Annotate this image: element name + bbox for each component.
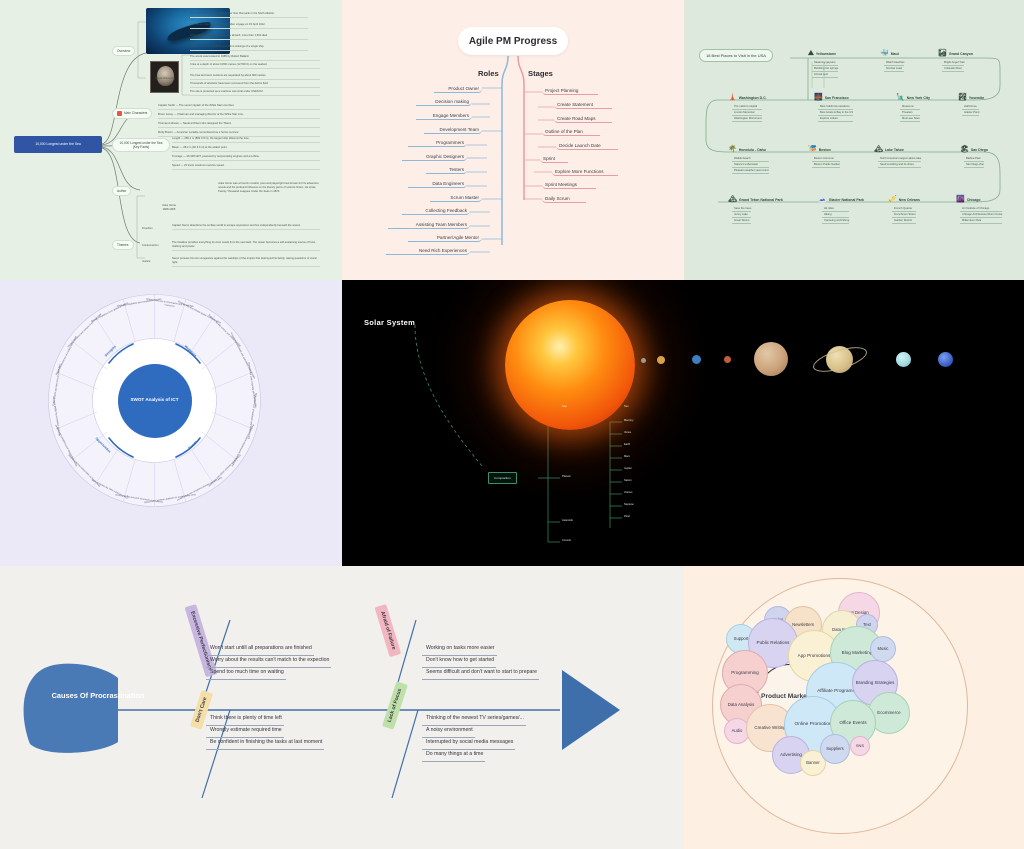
panel-titanic-mindmap: 10,000 Longest under the Sea Overview Ma… [0,0,342,280]
glacier-icon: 🗻 [818,196,827,203]
leaf-char-2: Bruce Ismay — Chairman and managing dire… [158,113,320,119]
stage-item-8[interactable]: Daily Scrum [542,196,586,203]
group-star: Star [562,405,567,408]
node-main-characters[interactable]: Main Characters [112,108,152,119]
place-glacier-items: Hit rides Hiking Canoeing and fishing [822,206,849,224]
heading-roles: Roles [478,69,499,78]
item-venus: Venus [624,431,631,434]
role-item-2[interactable]: Engage Members [416,113,472,120]
monument-icon: 🗼 [728,94,737,101]
place-new-york-city[interactable]: 🗽 New York City [896,94,930,101]
items-lack-of-focus: Thinking of the newest TV series/games/.… [422,714,526,762]
planet-earth [692,355,701,364]
item-jupiter: Jupiter [624,467,632,470]
leaf-theme-justice: Nemo pursues his own vengeance against t… [172,257,320,267]
bubble-suppliers[interactable]: Suppliers [820,734,850,764]
items-dont-care: Think there is plenty of time left Wrong… [206,714,324,750]
place-chicago[interactable]: 🌆 Chicago [956,196,981,203]
panel-procrastination-fishbone: Causes Of Procrastination Excessive Perf… [0,566,684,849]
panel-solar-system: Solar System Composition Star Sun Planet… [342,280,1024,566]
leaf-wreck-1: The wreck was located in 1985 by Robert … [190,55,320,61]
fishbone-head-label: Causes Of Procrastination [46,692,150,701]
node-themes[interactable]: Themes [112,240,134,250]
place-honolulu-oahu[interactable]: 🌴 Honolulu - Oahu [728,146,766,153]
items-excessive-perfectionism: Won't start untill all preparations are … [206,644,331,680]
role-item-6[interactable]: Testers [426,167,467,174]
swot-wheel: SWOT Analysis of ICT Strengths Weakness … [47,293,262,508]
mountain-icon: 🏔 [728,196,737,203]
role-item-9[interactable]: Collecting Feedback [402,208,470,215]
item-pluto: Pluto [624,515,630,518]
leaf-fact-1: Length — 269.1 m (882 ft 9 in), the larg… [172,137,320,143]
leaf-char-1: Captain Smith — The senior captain of th… [158,104,320,110]
place-lake-tahoe-items: North America's largest alpine lake Sand… [878,156,921,168]
items-afraid-of-failure: Working on tasks more easier Don't know … [422,644,539,680]
label-theme-consumerism: Consumerism [142,244,170,249]
panel3-connectors [684,0,1024,280]
leaf-wreck-2: It lies at a depth of about 3,800 metres… [190,63,320,69]
place-san-diego[interactable]: 🏖 San Diego [960,146,988,153]
panel-agile-pm: Agile PM Progress Roles Stages Product O… [342,0,684,280]
planet-mercury [641,358,646,363]
role-item-10[interactable]: Assisting Team Members [388,222,470,229]
leaf-author-bio: Jules Verne was a French novelist, poet … [218,182,320,195]
leaf-overview-2: It struck an iceberg during her maiden v… [190,23,308,29]
solar-system-title: Solar System [364,318,415,327]
place-san-francisco[interactable]: 🌉 San Francisco [814,94,849,101]
place-lake-tahoe[interactable]: 🏔 Lake Tahoe [874,146,904,153]
bubble-sns[interactable]: SNS [850,736,870,756]
panel-swot-wheel: SWOT Analysis of ICT Strengths Weakness … [0,280,342,566]
mindmap-gallery: 10,000 Longest under the Sea Overview Ma… [0,0,1024,849]
stage-item-1[interactable]: Create Statement [554,102,612,109]
valley-icon: 🏞 [958,94,967,101]
leaf-wreck-4: Thousands of artefacts have been recover… [190,82,320,88]
place-san-francisco-items: Best California vacations Best hotels & … [818,104,853,122]
item-sun: Sun [624,405,629,408]
place-honolulu-items: Waikiki beach Nature's underwater Pleasa… [732,156,769,174]
panel-usa-places: 18 Best Places to Visit in the USA ⛰ Yel… [684,0,1024,280]
place-yosemite-items: Half Dome Glacier Point [962,104,979,116]
heading-stages: Stages [528,69,553,78]
red-card-icon [117,111,122,116]
leaf-theme-freedom: Captain Nemo abandons the surface world … [172,224,320,230]
place-new-york-city-items: Museums Theaters Must-see Sites [900,104,920,122]
place-san-diego-items: Balboa Park San Diego Zoo [964,156,984,168]
label-theme-justice: Justice [142,260,168,265]
role-item-8[interactable]: Scrum Master [430,195,482,202]
mardi-gras-icon: 🎺 [888,196,897,203]
role-item-7[interactable]: Data Engineers [408,181,467,188]
place-chicago-items: Art Institute of Chicago Chicago Archite… [960,206,1002,224]
bridge-icon: 🌉 [814,94,823,101]
leaf-wreck-3: The bow and stern sections are separated… [190,74,320,80]
fishbone-bones [0,566,684,849]
role-item-12[interactable]: Need Rich Experiences [386,248,470,255]
place-grand-canyon[interactable]: 🏜 Grand Canyon [938,50,973,57]
lake-icon: 🏔 [874,146,883,153]
leaf-overview-4: It was one of the deadliest peacetime si… [190,45,308,51]
node-author[interactable]: Author [112,186,131,196]
place-yosemite[interactable]: 🏞 Yosemite [958,94,984,101]
stage-item-4[interactable]: Decide Launch Date [556,143,618,150]
leaf-fact-2: Beam — 28.2 m (92 ft 6 in) at the widest… [172,146,320,152]
statue-icon: 🗽 [896,94,905,101]
place-yellowstone-items: Steaming geysers Bubbling hot springs An… [812,60,838,78]
planet-venus [657,356,665,364]
role-item-5[interactable]: Graphic Designers [402,154,467,161]
palm-icon: 🌴 [728,146,737,153]
leaf-fact-3: Tonnage — 46,328 GRT, powered by recipro… [172,155,320,161]
stage-item-0[interactable]: Project Planning [542,88,598,95]
role-item-1[interactable]: Decision making [416,99,472,106]
place-grand-canyon-items: Bright Angel Trail Colorado River [942,60,964,72]
node-overview[interactable]: Overview [112,46,135,56]
geyser-icon: ⛰ [808,50,814,57]
planet-neptune [938,352,953,367]
item-mars: Mars [624,455,630,458]
caption-author: Jules Verne 1828-1905 [152,204,186,213]
sun-body [505,300,635,430]
leaf-fact-4: Speed — 23 knots maximum service speed. [172,164,320,170]
composition-node[interactable]: Composition [488,472,517,484]
swot-center-label: SWOT Analysis of ICT [118,364,192,438]
planet-uranus [896,352,911,367]
item-uranus: Uranus [624,491,632,494]
planet-mars [724,356,731,363]
label-wreck-discovery: Wreck Discovery [148,77,182,82]
item-mercury: Mercury [624,419,633,422]
beach-icon: 🏖 [960,146,969,153]
leaf-wreck-5: The site is protected as a maritime memo… [190,90,320,96]
stage-item-3[interactable]: Outline of the Plan [542,129,600,136]
panel1-root-node[interactable]: 10,000 Longest under the Sea [14,136,102,153]
place-grand-teton-items: Save the trees Jenny Lake Great Tetons [732,206,751,224]
place-washington-dc-items: The nation's capital Lincoln Memorial Wa… [732,104,762,122]
place-washington-dc[interactable]: 🗼 Washington D.C. [728,94,767,101]
item-neptune: Neptune [624,503,634,506]
place-grand-teton[interactable]: 🏔 Grand Teton National Park [728,196,783,203]
stage-item-7[interactable]: Sprint Meetings [542,182,596,189]
leaf-theme-consumerism: The Nautilus provides everything its cre… [172,241,320,251]
whale-icon: 🐳 [880,50,889,57]
place-maui[interactable]: 🐳 Maui [880,50,899,57]
group-planets: Planets [562,475,571,478]
flag-icon: 🎏 [808,146,817,153]
leaf-char-4: Molly Brown — American socialite remembe… [158,131,320,137]
place-glacier[interactable]: 🗻 Glacier National Park [818,196,864,203]
leaf-char-3: Thomas Andrews — Naval architect who des… [158,122,320,128]
bubble-music[interactable]: Music [870,636,896,662]
planet-jupiter [754,342,788,376]
label-theme-freedom: Freedom [142,227,168,232]
place-new-orleans-items: French Quarter Frenchmen Street Garden D… [892,206,916,224]
node-key-facts[interactable]: 10,000 Longest under the Sea (Key Facts) [112,138,170,152]
role-item-3[interactable]: Development Team [424,127,482,134]
stage-item-2[interactable]: Create Road Maps [554,116,612,123]
panel3-root-node[interactable]: 18 Best Places to Visit in the USA [699,49,773,62]
group-asteroids: Asteroids [562,519,573,522]
place-boston[interactable]: 🎏 Boston [808,146,831,153]
place-maui-items: Watch beaches Snorkel coast [884,60,904,72]
panel-product-marketing: Product Marketing UI Design Sales Newsle… [684,566,1024,849]
panel2-title: Agile PM Progress [458,27,568,55]
canyon-icon: 🏜 [938,50,947,57]
place-boston-items: Boston Common Boston Public Garden [812,156,840,168]
stage-item-6[interactable]: Explore More Functions [552,169,618,176]
item-earth: Earth [624,443,630,446]
stage-item-5[interactable]: Sprint [540,156,568,163]
item-saturn: Saturn [624,479,632,482]
skyline-icon: 🌆 [956,196,965,203]
role-item-11[interactable]: Partner/Agile Mentor [408,235,482,242]
role-item-0[interactable]: Product Owner [434,86,482,93]
leaf-overview-3: Of the 2,224 passengers and crew aboard,… [190,34,308,40]
leaf-overview-1: The Titanic was a British passenger line… [190,12,308,18]
place-new-orleans[interactable]: 🎺 New Orleans [888,196,920,203]
place-yellowstone[interactable]: ⛰ Yellowstone [808,50,836,57]
panel5-connector [342,280,1024,566]
group-comets: Comets [562,539,571,542]
role-item-4[interactable]: Programmers [408,140,467,147]
